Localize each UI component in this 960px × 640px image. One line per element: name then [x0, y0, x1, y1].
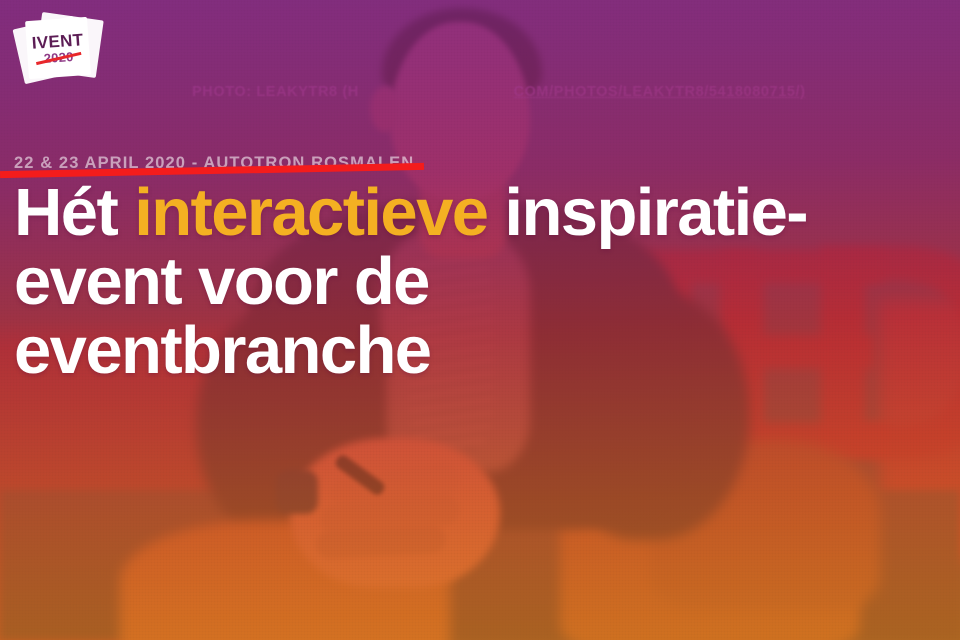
promo-banner: T E D PHOTO: LEAKYTR8 (H COM/PHO — [0, 0, 960, 640]
banner-content: IVENT 2020 22 & 23 APRIL 2020 - AUTOTRON… — [0, 0, 960, 640]
headline-line-1: Hét interactieve inspiratie- — [14, 178, 944, 247]
headline-line-3: eventbranche — [14, 316, 944, 385]
logo-wordmark: IVENT — [31, 31, 84, 52]
headline-part-het: Hét — [14, 175, 134, 250]
headline-part-inspiratie: inspiratie- — [487, 175, 807, 250]
logo-year-group: 2020 — [43, 49, 74, 64]
ivent-logo[interactable]: IVENT 2020 — [16, 8, 102, 84]
headline-line-2: event voor de — [14, 247, 944, 316]
headline-part-interactieve: interactieve — [134, 175, 487, 250]
page-title: Hét interactieve inspiratie- event voor … — [14, 178, 944, 385]
logo-text-group: IVENT 2020 — [25, 17, 91, 79]
